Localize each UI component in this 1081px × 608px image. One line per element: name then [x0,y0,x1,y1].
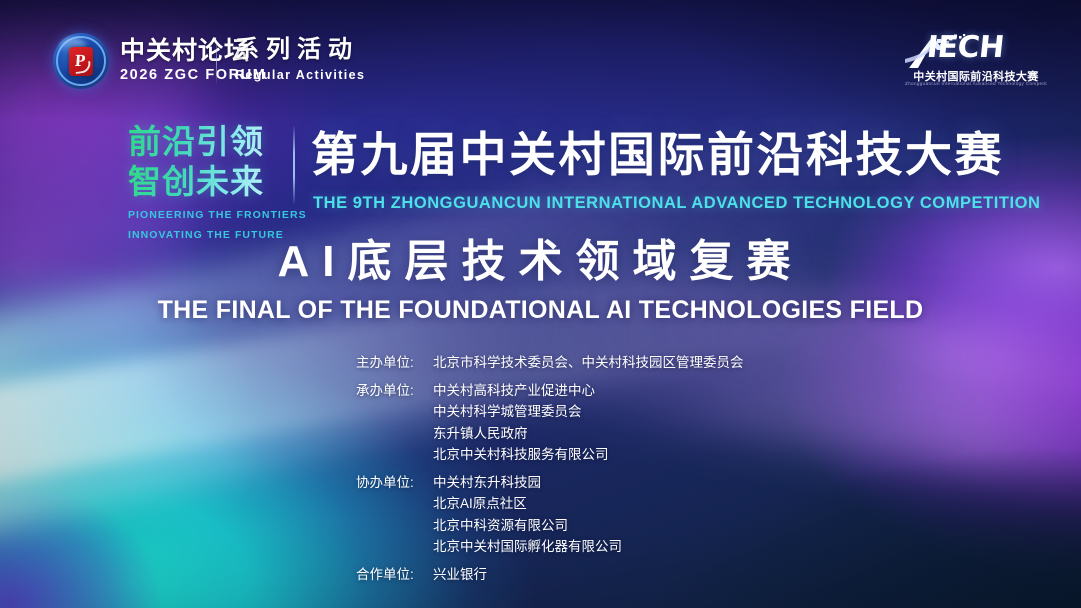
field-subtitle-en: THE FINAL OF THE FOUNDATIONAL AI TECHNOL… [0,296,1081,325]
poster-header: P 中关村论坛 2026 ZGC FORUM 系列活动 Regular Acti… [0,0,1081,120]
credit-value: 兴业银行 [433,564,487,586]
credit-value: 东升镇人民政府 [433,423,609,445]
field-subtitle-cn: AI底层技术领域复赛 [0,232,1081,292]
credit-value: 北京AI原点社区 [433,493,622,515]
series-label-cn: 系列活动 [235,36,365,64]
zgc-seal-letter: P [74,52,86,69]
series-label-en: Regular Activities [235,68,365,82]
slogan-block: 前沿引领 智创未来 PIONEERING THE FRONTIERS INNOV… [128,122,288,242]
slogan-divider [293,126,295,204]
credit-values: 兴业银行 [433,564,487,586]
header-divider [216,37,217,85]
credit-value: 中关村高科技产业促进中心 [433,380,609,402]
credit-value: 中关村东升科技园 [433,472,622,494]
slogan-line-1: 前沿引领 [128,122,288,162]
credit-label: 合作单位: [356,564,433,586]
organizer-credits: 主办单位:北京市科学技术委员会、中关村科技园区管理委员会承办单位:中关村高科技产… [356,352,744,585]
credit-row: 主办单位:北京市科学技术委员会、中关村科技园区管理委员会 [356,352,744,374]
credit-value: 北京中关村国际孵化器有限公司 [433,536,622,558]
credit-value: 北京中科资源有限公司 [433,515,622,537]
credit-values: 中关村东升科技园北京AI原点社区北京中科资源有限公司北京中关村国际孵化器有限公司 [433,472,622,558]
credit-label: 主办单位: [356,352,433,374]
credit-label: 协办单位: [356,472,433,494]
credit-values: 中关村高科技产业促进中心中关村科学城管理委员会东升镇人民政府北京中关村科技服务有… [433,380,609,466]
credit-row: 协办单位:中关村东升科技园北京AI原点社区北京中科资源有限公司北京中关村国际孵化… [356,472,744,558]
slogan-line-2: 智创未来 [128,162,288,202]
credit-value: 中关村科学城管理委员会 [433,401,609,423]
event-poster: P 中关村论坛 2026 ZGC FORUM 系列活动 Regular Acti… [0,0,1081,608]
credit-label: 承办单位: [356,380,433,402]
series-label: 系列活动 Regular Activities [235,36,365,82]
credit-row: 承办单位:中关村高科技产业促进中心中关村科学城管理委员会东升镇人民政府北京中关村… [356,380,744,466]
zgc-forum-seal-icon: P [53,33,109,89]
event-title-en: THE 9TH ZHONGGUANCUN INTERNATIONAL ADVAN… [313,194,1040,213]
slogan-en-line-1: PIONEERING THE FRONTIERS [128,208,288,222]
event-title-cn: 第九届中关村国际前沿科技大赛 [311,126,1004,184]
credit-value: 北京市科学技术委员会、中关村科技园区管理委员会 [433,352,744,374]
zgc-seal-glyph: P [69,47,93,76]
credit-row: 合作单位:兴业银行 [356,564,744,586]
aitech-wordmark: IECH [925,30,1005,65]
aitech-name-en: Zhongguancun International Advanced Tech… [905,81,1047,86]
credit-values: 北京市科学技术委员会、中关村科技园区管理委员会 [433,352,744,374]
aitech-logo: IECH 中关村国际前沿科技大赛 Zhongguancun Internatio… [899,28,1049,92]
credit-value: 北京中关村科技服务有限公司 [433,444,609,466]
